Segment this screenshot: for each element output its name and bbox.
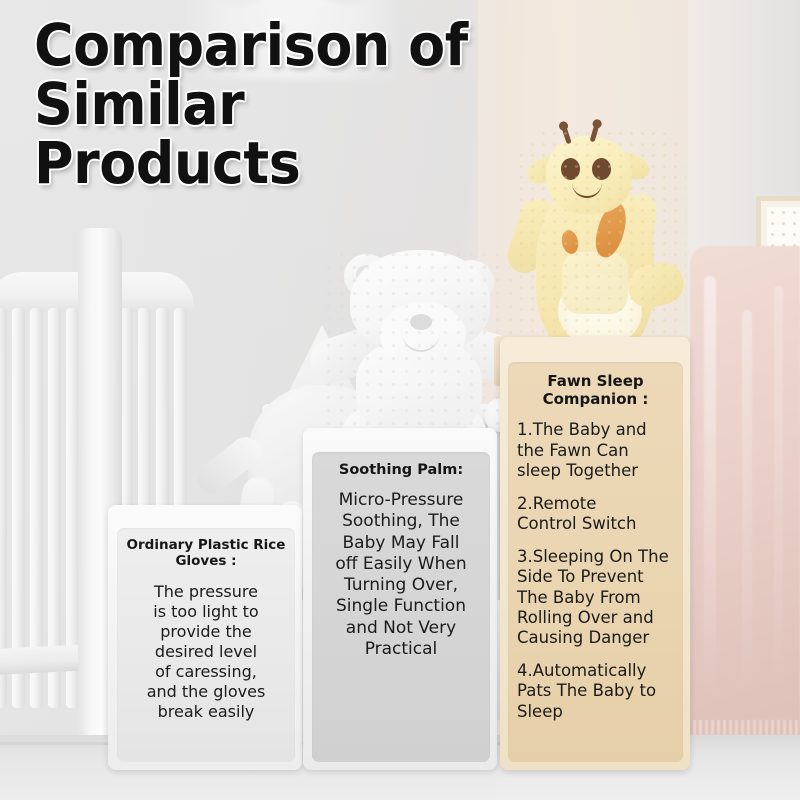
card-feature-item: 1.The Baby and the Fawn Can sleep Togeth… xyxy=(517,420,674,481)
bear-soothing-palm-plush xyxy=(322,248,512,448)
card-body: Micro-Pressure Soothing, The Baby May Fa… xyxy=(335,490,466,660)
card-heading: Soothing Palm: xyxy=(339,462,463,479)
card-heading: Fawn Sleep Companion : xyxy=(517,373,674,408)
page-title: Comparison of Similar Products xyxy=(34,16,685,193)
card-panel: Soothing Palm: Micro-Pressure Soothing, … xyxy=(312,452,490,762)
comparison-card-fawn-sleep-companion[interactable]: Fawn Sleep Companion : 1.The Baby and th… xyxy=(500,337,690,770)
card-panel: Ordinary Plastic Rice Gloves : The press… xyxy=(117,528,295,762)
card-heading: Ordinary Plastic Rice Gloves : xyxy=(125,538,287,570)
card-feature-item: 3.Sleeping On The Side To Prevent The Ba… xyxy=(517,547,674,649)
infographic-canvas: Comparison of Similar Products Ordinary … xyxy=(0,0,800,800)
pink-blanket xyxy=(690,246,800,766)
card-panel: Fawn Sleep Companion : 1.The Baby and th… xyxy=(508,362,683,762)
card-feature-item: 4.Automatically Pats The Baby to Sleep xyxy=(517,661,674,722)
bear-dot-texture xyxy=(322,248,512,448)
comparison-card-ordinary-plastic-rice-gloves[interactable]: Ordinary Plastic Rice Gloves : The press… xyxy=(108,505,302,770)
comparison-card-soothing-palm[interactable]: Soothing Palm: Micro-Pressure Soothing, … xyxy=(303,428,497,770)
card-feature-item: 2.Remote Control Switch xyxy=(517,494,674,535)
card-body: The pressure is too light to provide the… xyxy=(147,582,266,722)
